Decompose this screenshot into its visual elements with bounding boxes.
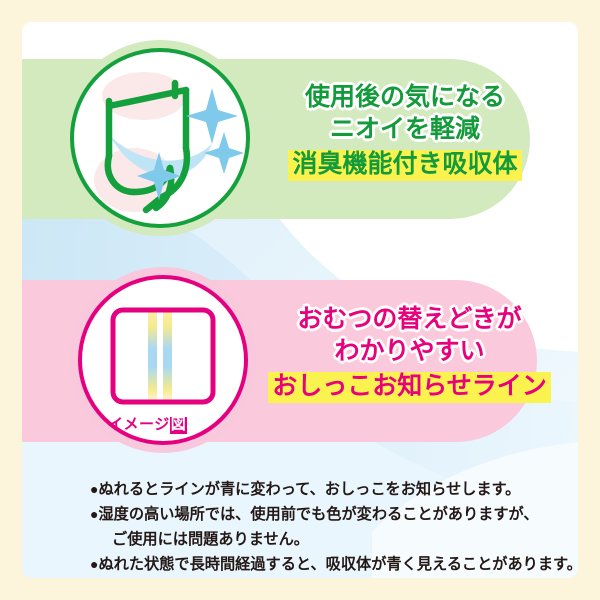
- note-text: ぬれた状態で長時間経過すると、吸収体が青く見えることがあります。: [98, 556, 578, 573]
- headline-line-1: 使用後の気になる: [270, 82, 540, 112]
- highlight-badge-wetness: おしっこお知らせライン: [268, 372, 551, 403]
- note-text: ぬれるとラインが青に変わって、おしっこをお知らせします。: [98, 481, 520, 498]
- diaper-pants-sparkle-icon: [62, 40, 258, 236]
- feature-text-wetness: おむつの替えどきが わかりやすい おしっこお知らせライン: [267, 304, 552, 403]
- note-text: 湿度の高い場所では、使用前でも色が変わることがありますが、: [98, 506, 538, 523]
- content-card: 使用後の気になる ニオイを軽減 消臭機能付き吸収体: [22, 22, 578, 578]
- headline-line-2: わかりやすい: [267, 336, 552, 366]
- notes-list: ●ぬれるとラインが青に変わって、おしっこをお知らせします。 ●湿度の高い場所では…: [90, 477, 560, 577]
- note-item: ご使用には問題ありません。: [90, 527, 560, 552]
- highlight-badge-odor: 消臭機能付き吸収体: [288, 150, 521, 181]
- feature-icon-wetness-indicator: イメージ図: [70, 267, 256, 453]
- note-item: ●ぬれるとラインが青に変わって、おしっこをお知らせします。: [90, 477, 560, 502]
- headline-line-2: ニオイを軽減: [270, 114, 540, 144]
- feature-icon-odor-reduction: [62, 40, 258, 236]
- image-caption-text: イメージ: [108, 416, 170, 433]
- note-item: ●湿度の高い場所では、使用前でも色が変わることがありますが、: [90, 502, 560, 527]
- note-text: ご使用には問題ありません。: [112, 531, 309, 548]
- headline-line-1: おむつの替えどきが: [267, 304, 552, 334]
- feature-text-odor: 使用後の気になる ニオイを軽減 消臭機能付き吸収体: [270, 82, 540, 181]
- note-item: ●ぬれた状態で長時間経過すると、吸収体が青く見えることがあります。: [90, 552, 560, 577]
- image-caption-boxed: 図: [170, 417, 188, 434]
- infographic-page: 使用後の気になる ニオイを軽減 消臭機能付き吸収体: [0, 0, 600, 600]
- image-caption: イメージ図: [108, 413, 187, 434]
